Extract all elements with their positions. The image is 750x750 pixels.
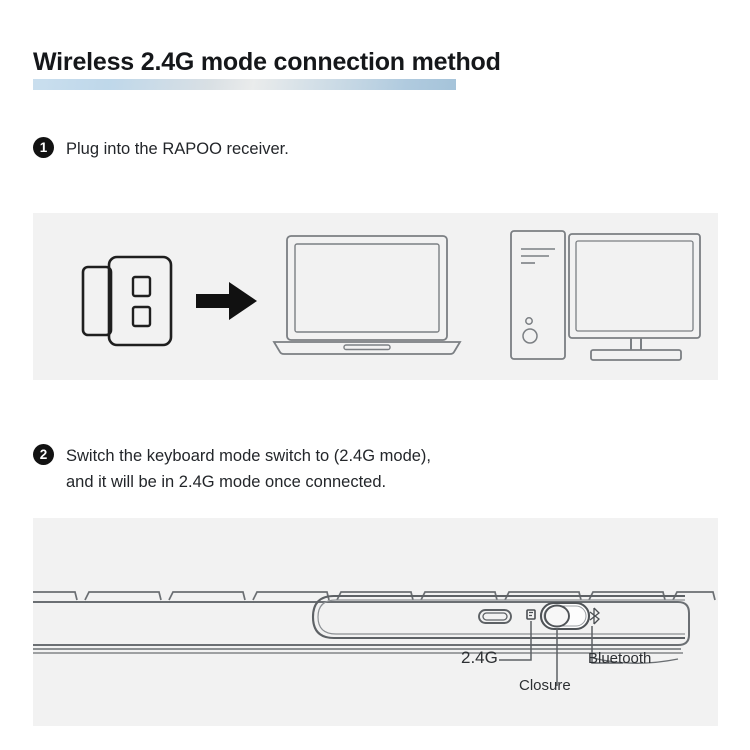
mode-switch[interactable]	[541, 603, 589, 629]
receiver-illustration-svg	[33, 213, 718, 380]
page-title: Wireless 2.4G mode connection method	[33, 48, 501, 77]
bluetooth-icon	[590, 608, 599, 624]
step-1: 1 Plug into the RAPOO receiver.	[33, 136, 289, 162]
callout-label-24g: 2.4G	[461, 648, 498, 668]
usb-receiver-icon	[83, 257, 171, 345]
laptop-icon	[274, 236, 460, 354]
receiver-illustration-panel	[33, 213, 718, 380]
title-highlight-bar	[33, 79, 456, 90]
desktop-computer-icon	[511, 231, 700, 360]
24g-icon	[527, 610, 535, 619]
keyboard-illustration-panel	[33, 518, 718, 726]
callout-label-bluetooth: Bluetooth	[588, 650, 651, 667]
step-1-text: Plug into the RAPOO receiver.	[66, 136, 289, 162]
step-2-text: Switch the keyboard mode switch to (2.4G…	[66, 443, 431, 495]
keyboard-illustration-svg	[33, 518, 718, 726]
callout-label-closure: Closure	[519, 677, 571, 694]
usb-c-port-icon	[479, 610, 511, 623]
step-2: 2 Switch the keyboard mode switch to (2.…	[33, 443, 431, 495]
step-2-number: 2	[33, 444, 54, 465]
step-1-number: 1	[33, 137, 54, 158]
arrow-right-icon	[196, 282, 257, 320]
